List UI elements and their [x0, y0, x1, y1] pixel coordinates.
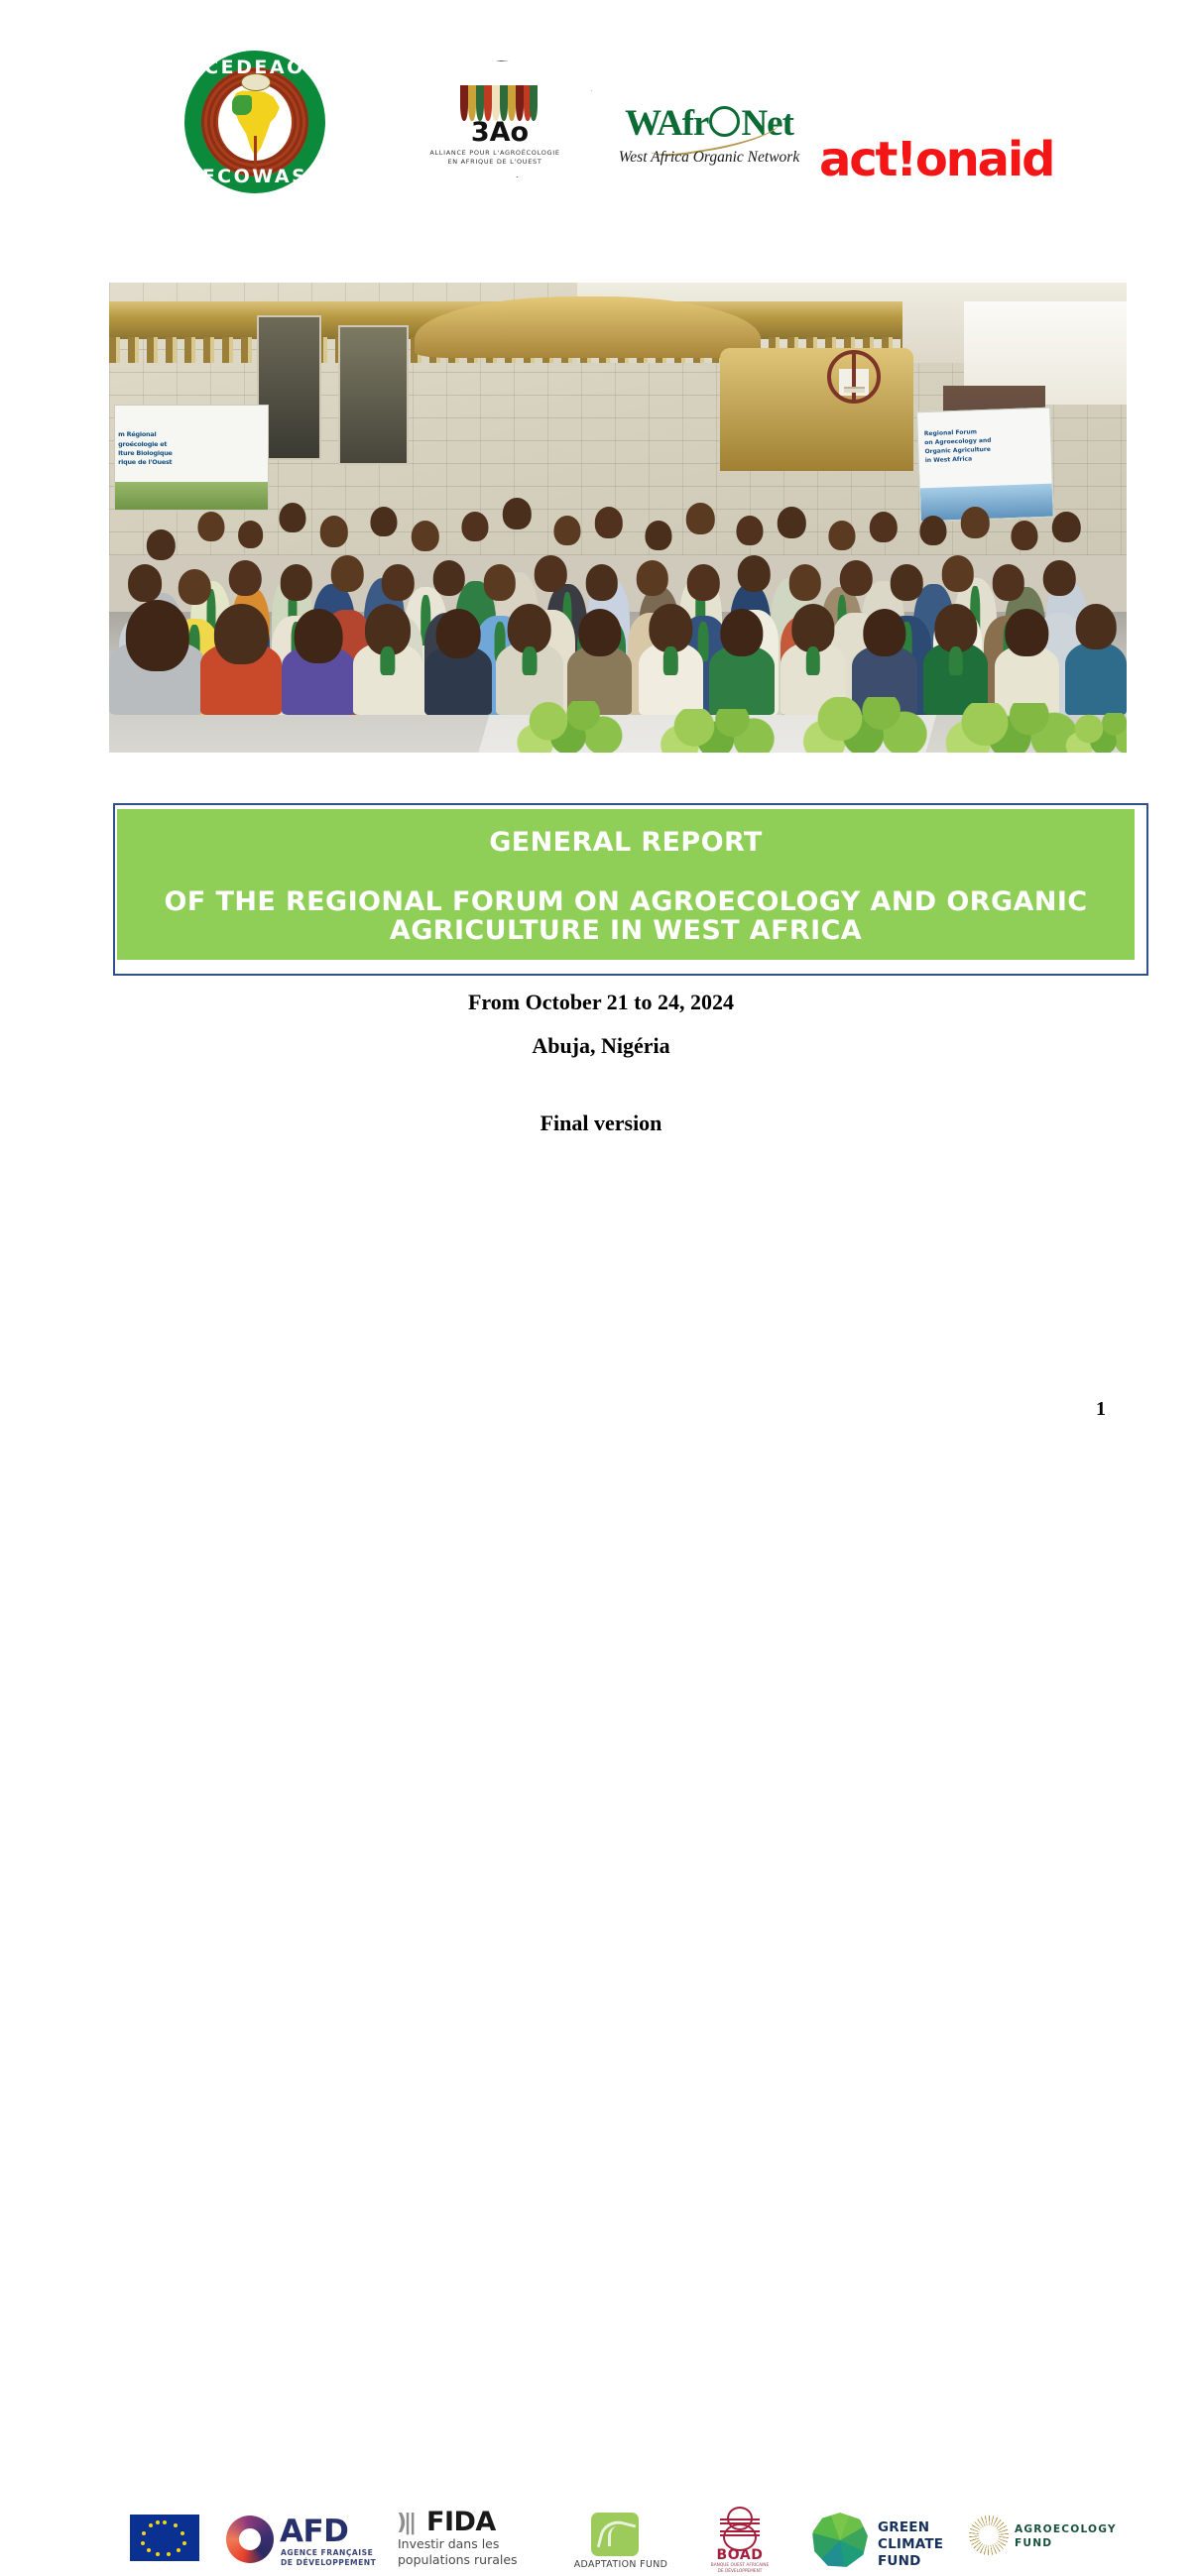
- fida-logo: )|| FIDA Investir dans les populations r…: [397, 2509, 526, 2570]
- boad-logo: BOAD BANQUE OUEST AFRICAINE DE DÉVELOPPE…: [698, 2507, 781, 2574]
- wafronet-tagline: West Africa Organic Network: [607, 149, 811, 167]
- boad-tagline-line2: DE DÉVELOPPEMENT: [698, 2569, 781, 2575]
- header-logo-strip: CEDEAO ECOWAS 3Ao ALLIANCE POUR L'AGROÉC…: [0, 0, 1202, 233]
- document-version: Final version: [0, 1111, 1202, 1136]
- sprout-leaf-icon: [608, 2526, 627, 2546]
- photo-crowd: [109, 423, 1127, 715]
- report-title-banner: GENERAL REPORT OF THE REGIONAL FORUM ON …: [117, 809, 1135, 960]
- africa-map-highlight-icon: [232, 95, 252, 115]
- boad-tagline: BANQUE OUEST AFRICAINE DE DÉVELOPPEMENT: [698, 2563, 781, 2576]
- event-location: Abuja, Nigéria: [0, 1033, 1202, 1059]
- footer-logo-strip: AFD AGENCE FRANÇAISE DE DÉVELOPPEMENT )|…: [0, 1251, 1202, 1350]
- agroecology-fund-line2: FUND: [1015, 2536, 1117, 2550]
- wafronet-logo: WAfrNet West Africa Organic Network: [607, 102, 811, 189]
- photo-person: [109, 640, 205, 715]
- photo-person: [709, 645, 775, 716]
- fida-mark-icon: )||: [397, 2511, 414, 2535]
- photo-shrub: [516, 701, 625, 753]
- photo-plaque-base: [844, 387, 865, 393]
- fida-tagline-line1: Investir dans les: [398, 2536, 518, 2552]
- photo-shrub: [943, 703, 1082, 753]
- photo-shrub: [801, 697, 930, 753]
- ecowas-text-top: CEDEAO: [184, 57, 325, 78]
- adaptation-fund-label: ADAPTATION FUND: [568, 2559, 673, 2570]
- actionaid-logo: act!onaid: [819, 132, 1033, 187]
- photo-person: [353, 643, 422, 715]
- boad-mark-icon: [720, 2507, 760, 2548]
- photo-shrub: [659, 709, 778, 753]
- afd-tagline-line1: AGENCE FRANÇAISE: [281, 2548, 376, 2558]
- 3ao-tagline-line1: ALLIANCE POUR L'AGROÉCOLOGIE: [421, 149, 569, 158]
- photo-person: [639, 643, 704, 715]
- afd-tagline-line2: DE DÉVELOPPEMENT: [281, 2558, 376, 2568]
- fida-tagline-line2: populations rurales: [398, 2552, 518, 2568]
- agroecology-fund-line1: AGROECOLOGY: [1015, 2522, 1117, 2536]
- afd-logo: AFD AGENCE FRANÇAISE DE DÉVELOPPEMENT: [226, 2513, 377, 2568]
- ecowas-text-bottom: ECOWAS: [184, 166, 325, 187]
- photo-person: [200, 643, 282, 715]
- afd-ring-icon: [226, 2516, 274, 2563]
- 3ao-tagline-line2: EN AFRIQUE DE L'OUEST: [421, 158, 569, 167]
- woven-basket-icon: [460, 85, 538, 121]
- gcf-line3: FUND: [878, 2553, 943, 2570]
- photo-person: [282, 645, 355, 716]
- green-climate-fund-label: GREEN CLIMATE FUND: [878, 2519, 943, 2570]
- fida-wordmark: FIDA: [426, 2509, 496, 2536]
- 3ao-logo: 3Ao ALLIANCE POUR L'AGROÉCOLOGIE EN AFRI…: [421, 58, 601, 178]
- 3ao-tagline: ALLIANCE POUR L'AGROÉCOLOGIE EN AFRIQUE …: [421, 149, 569, 168]
- group-photo: m Régional groécologie et lture Biologiq…: [109, 283, 1127, 753]
- boad-wordmark: BOAD: [698, 2547, 781, 2563]
- gcf-line2: CLIMATE: [878, 2536, 943, 2553]
- page-subtitle: OF THE REGIONAL FORUM ON AGROECOLOGY AND…: [141, 888, 1111, 945]
- event-dates: From October 21 to 24, 2024: [0, 990, 1202, 1015]
- european-union-flag-icon: [130, 2515, 199, 2561]
- page-number: 1: [1081, 1398, 1121, 1421]
- afd-tagline: AGENCE FRANÇAISE DE DÉVELOPPEMENT: [281, 2548, 376, 2569]
- photo-person: [424, 645, 492, 716]
- adaptation-fund-mark-icon: [591, 2513, 639, 2556]
- adaptation-fund-logo: ADAPTATION FUND: [568, 2513, 673, 2572]
- page-title: GENERAL REPORT: [141, 829, 1111, 857]
- ecowas-logo: CEDEAO ECOWAS: [184, 51, 325, 193]
- agroecology-fund-label: AGROECOLOGY FUND: [1015, 2522, 1117, 2551]
- agroecology-fund-logo: AGROECOLOGY FUND: [969, 2516, 1118, 2559]
- photo-shrub: [1065, 713, 1127, 753]
- afd-wordmark: AFD: [280, 2517, 348, 2547]
- photo-venue-plaque: [839, 369, 868, 396]
- fida-tagline: Investir dans les populations rurales: [398, 2536, 518, 2567]
- cover-meta: From October 21 to 24, 2024 Abuja, Nigér…: [0, 990, 1202, 1136]
- green-climate-fund-logo: GREEN CLIMATE FUND: [812, 2513, 951, 2570]
- sunburst-icon: [969, 2516, 1009, 2555]
- gcf-line1: GREEN: [878, 2519, 943, 2536]
- faceted-globe-icon: [812, 2513, 868, 2568]
- venue-seal-icon: [827, 350, 881, 404]
- 3ao-acronym: 3Ao: [448, 119, 551, 146]
